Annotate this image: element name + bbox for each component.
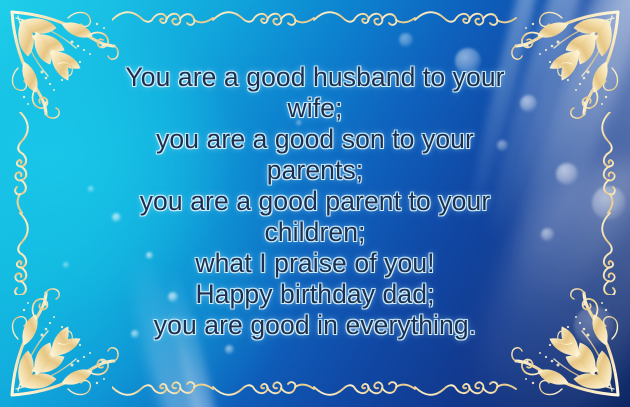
greeting-card: You are a good husband to your wife; you… (0, 0, 630, 407)
greeting-message: You are a good husband to your wife; you… (80, 62, 550, 341)
border-vine-bottom (112, 371, 518, 403)
border-vine-left (4, 112, 36, 295)
border-vine-top (112, 4, 518, 36)
border-vine-right (594, 112, 626, 295)
